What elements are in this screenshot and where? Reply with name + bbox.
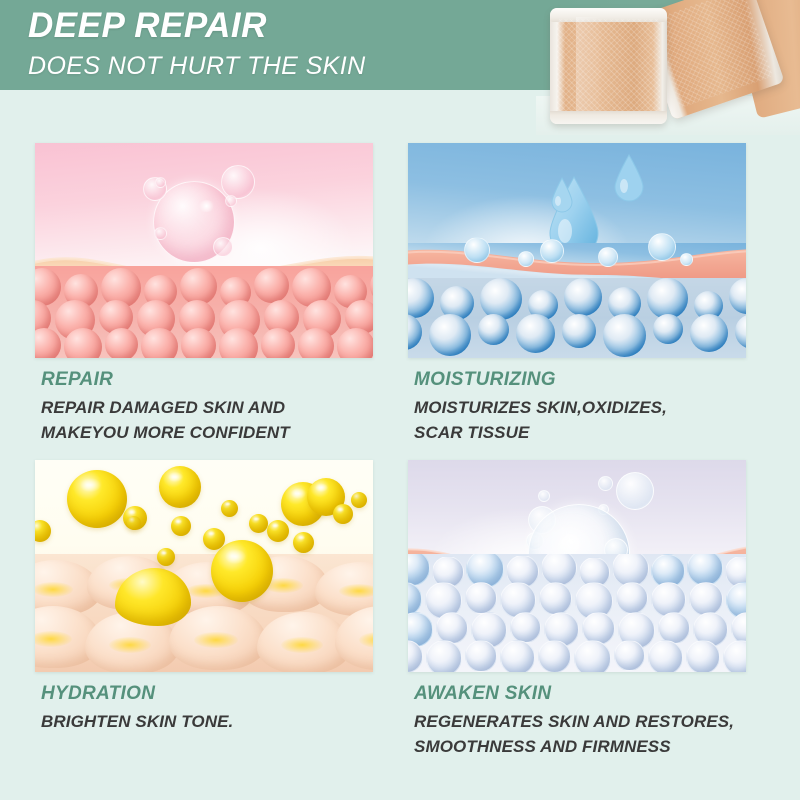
oil-sphere-small xyxy=(171,516,191,536)
infographic-page: DEEP REPAIR DOES NOT HURT THE SKIN xyxy=(0,0,800,800)
feature-body-line: MAKEYOU MORE CONFIDENT xyxy=(41,420,401,445)
water-drop-medium xyxy=(613,153,645,203)
hydration-illustration xyxy=(35,460,373,672)
bubble-tiny xyxy=(225,195,237,207)
product-photo xyxy=(536,0,800,135)
surface-droplet xyxy=(540,239,564,263)
feature-body-line: MOISTURIZES SKIN,OXIDIZES, xyxy=(414,395,774,420)
feature-body-moisturizing: MOISTURIZES SKIN,OXIDIZES, SCAR TISSUE xyxy=(414,395,774,445)
cell-row xyxy=(35,328,373,358)
tape-highlight xyxy=(576,17,602,115)
feature-heading-awaken-skin: AWAKEN SKIN xyxy=(414,683,551,705)
feature-body-line: REGENERATES SKIN AND RESTORES, xyxy=(414,709,774,734)
bubble-tiny xyxy=(538,490,550,502)
bubble-tiny xyxy=(598,476,613,491)
feature-heading-hydration: HYDRATION xyxy=(41,683,155,705)
skin-surface-cells xyxy=(35,554,373,672)
feature-heading-repair: REPAIR xyxy=(41,369,113,391)
oil-sphere-small xyxy=(249,514,268,533)
bubble-tiny xyxy=(155,177,166,188)
oil-sphere-tiny xyxy=(35,520,51,542)
surface-droplet xyxy=(680,253,693,266)
bubble-medium xyxy=(221,165,255,199)
dermis-cell-layer xyxy=(408,554,746,672)
oil-sphere-large xyxy=(67,470,127,528)
surface-droplet xyxy=(598,247,618,267)
oil-sphere-tiny xyxy=(351,492,367,508)
feature-body-line: BRIGHTEN SKIN TONE. xyxy=(41,709,401,734)
oil-sphere-small xyxy=(221,500,238,517)
feature-body-hydration: BRIGHTEN SKIN TONE. xyxy=(41,709,401,734)
scar-tape-roll-front xyxy=(550,8,667,124)
repair-illustration xyxy=(35,143,373,358)
oil-sphere-tiny xyxy=(127,516,141,530)
oil-sphere-small xyxy=(203,528,225,550)
dermis-cell-layer xyxy=(408,278,746,358)
tape-texture xyxy=(557,19,660,114)
oil-sphere-medium xyxy=(159,466,201,508)
tape-bottom-edge xyxy=(550,111,667,124)
bubble-sparkle xyxy=(198,200,215,212)
feature-body-line: SMOOTHNESS AND FIRMNESS xyxy=(414,734,774,759)
feature-heading-moisturizing: MOISTURIZING xyxy=(414,369,556,391)
bubble-medium xyxy=(616,472,654,510)
feature-body-awaken-skin: REGENERATES SKIN AND RESTORES, SMOOTHNES… xyxy=(414,709,774,759)
oil-sphere-small xyxy=(333,504,353,524)
page-title: DEEP REPAIR xyxy=(28,6,267,46)
cell-row xyxy=(408,640,746,672)
feature-body-line: REPAIR DAMAGED SKIN AND xyxy=(41,395,401,420)
awaken-skin-illustration xyxy=(408,460,746,672)
moisturizing-illustration xyxy=(408,143,746,358)
surface-droplet xyxy=(648,233,676,261)
feature-body-line: SCAR TISSUE xyxy=(414,420,774,445)
oil-sphere-small xyxy=(267,520,289,542)
water-drop-small xyxy=(550,176,574,214)
surface-droplet xyxy=(464,237,490,263)
oil-sphere-small xyxy=(157,548,175,566)
dermis-cell-layer xyxy=(35,266,373,358)
cell-row xyxy=(408,314,746,357)
surface-droplet xyxy=(518,251,534,267)
oil-sphere-large xyxy=(211,540,273,602)
page-subtitle: DOES NOT HURT THE SKIN xyxy=(28,52,366,81)
oil-sphere-small xyxy=(293,532,314,553)
feature-body-repair: REPAIR DAMAGED SKIN AND MAKEYOU MORE CON… xyxy=(41,395,401,445)
